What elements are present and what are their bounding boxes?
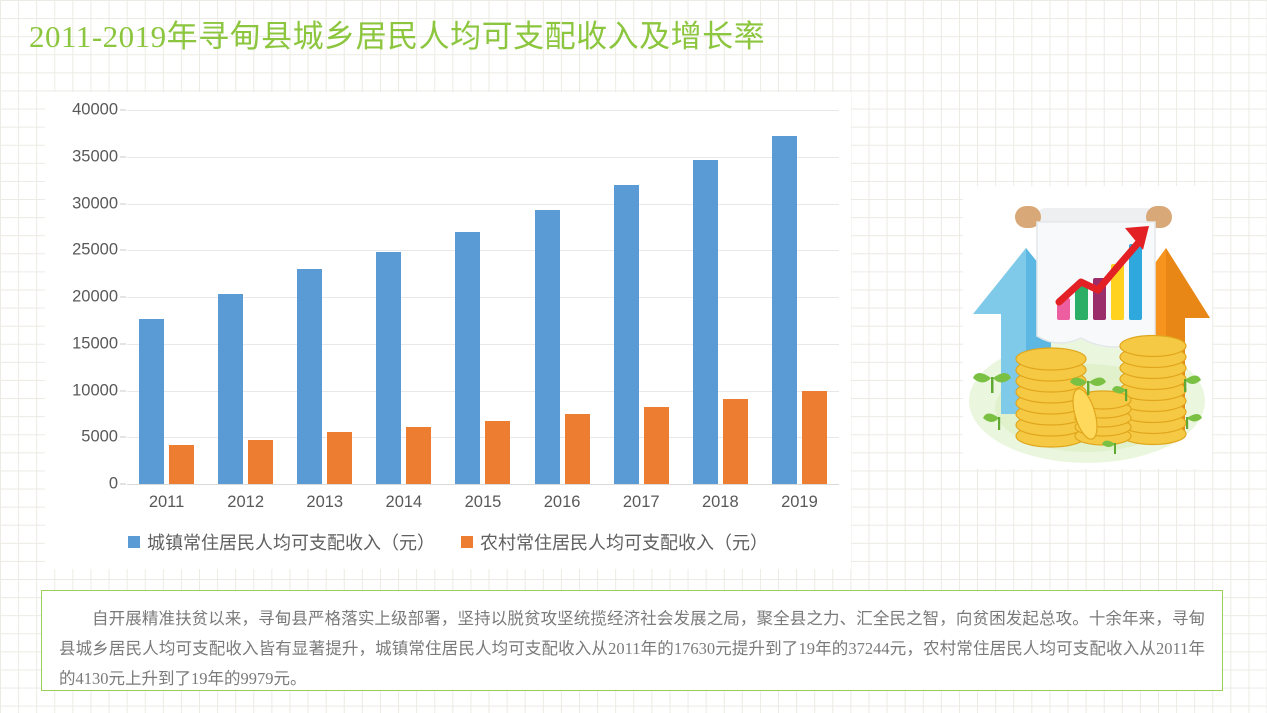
bar-rural-2015[interactable] bbox=[485, 421, 510, 484]
legend-swatch-icon bbox=[128, 536, 140, 548]
bar-rural-2018[interactable] bbox=[723, 399, 748, 484]
x-axis-tick-label: 2012 bbox=[206, 493, 285, 512]
scroll-chart-paper bbox=[1015, 206, 1172, 347]
chart-panel: 0500010000150002000025000300003500040000… bbox=[45, 92, 851, 569]
page-title: 2011-2019年寻甸县城乡居民人均可支配收入及增长率 bbox=[29, 18, 765, 56]
bar-group: 2015 bbox=[443, 110, 522, 484]
chart-legend: 城镇常住居民人均可支配收入（元）农村常住居民人均可支配收入（元） bbox=[45, 529, 851, 555]
x-axis-tick-label: 2013 bbox=[285, 493, 364, 512]
legend-item-urban[interactable]: 城镇常住居民人均可支配收入（元） bbox=[128, 529, 435, 555]
y-axis-tick-label: 35000 bbox=[72, 147, 118, 166]
bar-group: 2019 bbox=[760, 110, 839, 484]
bar-rural-2019[interactable] bbox=[802, 391, 827, 484]
y-axis-tick-label: 0 bbox=[109, 475, 118, 494]
y-axis-tick-label: 15000 bbox=[72, 334, 118, 353]
bar-group: 2017 bbox=[602, 110, 681, 484]
y-axis-tick-label: 5000 bbox=[81, 428, 118, 447]
bar-rural-2016[interactable] bbox=[565, 414, 590, 484]
bar-rural-2011[interactable] bbox=[169, 445, 194, 484]
bar-group: 2016 bbox=[523, 110, 602, 484]
legend-label: 农村常住居民人均可支配收入（元） bbox=[480, 529, 768, 555]
y-axis-tick-mark bbox=[120, 250, 126, 251]
chart-gridline bbox=[127, 484, 839, 485]
bar-urban-2012[interactable] bbox=[218, 294, 243, 484]
y-axis-tick-label: 25000 bbox=[72, 241, 118, 260]
bar-urban-2011[interactable] bbox=[139, 319, 164, 484]
legend-item-rural[interactable]: 农村常住居民人均可支配收入（元） bbox=[461, 529, 768, 555]
coin-stack-center bbox=[1068, 386, 1131, 445]
y-axis-tick-label: 10000 bbox=[72, 381, 118, 400]
bar-rural-2013[interactable] bbox=[327, 432, 352, 484]
bar-urban-2016[interactable] bbox=[535, 210, 560, 484]
bar-rural-2012[interactable] bbox=[248, 440, 273, 484]
bar-group: 2013 bbox=[285, 110, 364, 484]
bar-urban-2015[interactable] bbox=[455, 232, 480, 484]
x-axis-tick-label: 2011 bbox=[127, 493, 206, 512]
bar-urban-2013[interactable] bbox=[297, 269, 322, 484]
bar-group: 2014 bbox=[364, 110, 443, 484]
chart-plot-area: 0500010000150002000025000300003500040000… bbox=[127, 110, 839, 484]
x-axis-tick-label: 2018 bbox=[681, 493, 760, 512]
summary-note-text: 自开展精准扶贫以来，寻甸县严格落实上级部署，坚持以脱贫攻坚统揽经济社会发展之局，… bbox=[59, 604, 1205, 694]
y-axis-tick-label: 40000 bbox=[72, 101, 118, 120]
x-axis-tick-label: 2019 bbox=[760, 493, 839, 512]
x-axis-tick-label: 2014 bbox=[364, 493, 443, 512]
summary-note-box: 自开展精准扶贫以来，寻甸县严格落实上级部署，坚持以脱贫攻坚统揽经济社会发展之局，… bbox=[41, 590, 1223, 691]
bar-rural-2014[interactable] bbox=[406, 427, 431, 484]
bar-urban-2014[interactable] bbox=[376, 252, 401, 484]
legend-label: 城镇常住居民人均可支配收入（元） bbox=[147, 529, 435, 555]
y-axis-tick-mark bbox=[120, 343, 126, 344]
y-axis-tick-mark bbox=[120, 390, 126, 391]
bar-group: 2012 bbox=[206, 110, 285, 484]
growth-arrows-coins-illustration bbox=[963, 186, 1212, 469]
bar-rural-2017[interactable] bbox=[644, 407, 669, 484]
x-axis-tick-label: 2015 bbox=[443, 493, 522, 512]
y-axis-tick-label: 30000 bbox=[72, 194, 118, 213]
y-axis-tick-mark bbox=[120, 297, 126, 298]
x-axis-tick-label: 2017 bbox=[602, 493, 681, 512]
y-axis-tick-mark bbox=[120, 437, 126, 438]
y-axis-tick-mark bbox=[120, 110, 126, 111]
bar-group: 2018 bbox=[681, 110, 760, 484]
y-axis-tick-label: 20000 bbox=[72, 288, 118, 307]
bar-urban-2019[interactable] bbox=[772, 136, 797, 484]
legend-swatch-icon bbox=[461, 536, 473, 548]
bar-urban-2017[interactable] bbox=[614, 185, 639, 484]
y-axis-tick-mark bbox=[120, 484, 126, 485]
y-axis-tick-mark bbox=[120, 156, 126, 157]
bar-urban-2018[interactable] bbox=[693, 160, 718, 484]
bar-group: 2011 bbox=[127, 110, 206, 484]
x-axis-tick-label: 2016 bbox=[523, 493, 602, 512]
y-axis-tick-mark bbox=[120, 203, 126, 204]
